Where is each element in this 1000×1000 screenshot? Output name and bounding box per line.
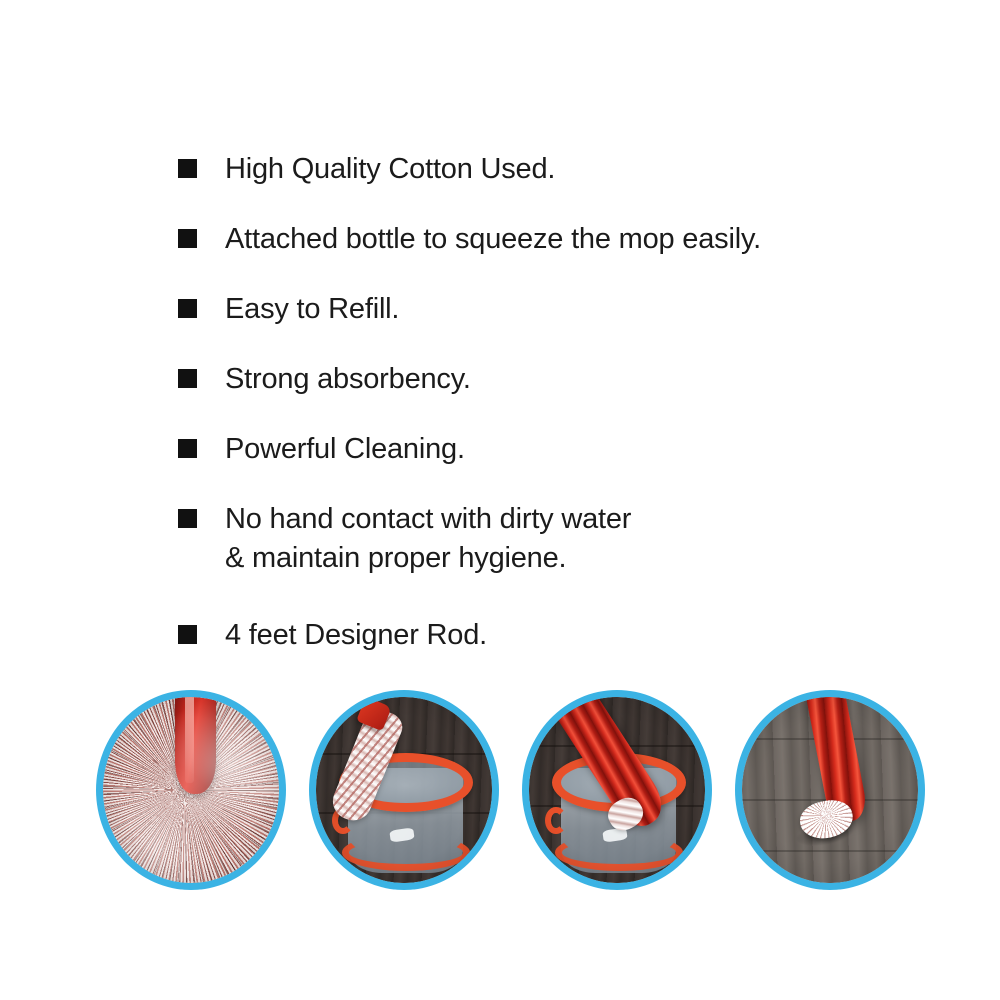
photo-scene [103, 697, 279, 883]
product-photo-mop-on-wooden-floor [735, 690, 925, 890]
feature-text: High Quality Cotton Used. [225, 150, 555, 189]
bullet-square-icon [178, 299, 197, 318]
list-item: Strong absorbency. [178, 360, 938, 399]
bullet-square-icon [178, 369, 197, 388]
list-item: Powerful Cleaning. [178, 430, 938, 469]
bullet-square-icon [178, 439, 197, 458]
list-item: Easy to Refill. [178, 290, 938, 329]
list-item: Attached bottle to squeeze the mop easil… [178, 220, 938, 259]
photo-scene [316, 697, 492, 883]
list-item: No hand contact with dirty water & maint… [178, 500, 938, 578]
photo-scene [529, 697, 705, 883]
feature-text: Powerful Cleaning. [225, 430, 465, 469]
product-photo-mop-rod-over-bucket [522, 690, 712, 890]
feature-text: Strong absorbency. [225, 360, 471, 399]
product-feature-panel: High Quality Cotton Used. Attached bottl… [0, 0, 1000, 1000]
bullet-square-icon [178, 509, 197, 528]
list-item: High Quality Cotton Used. [178, 150, 938, 189]
feature-text: No hand contact with dirty water & maint… [225, 500, 631, 578]
feature-text: Easy to Refill. [225, 290, 399, 329]
bullet-square-icon [178, 625, 197, 644]
product-photo-mop-head-closeup [96, 690, 286, 890]
product-photo-row [96, 690, 926, 895]
bullet-square-icon [178, 229, 197, 248]
bullet-square-icon [178, 159, 197, 178]
photo-scene [742, 697, 918, 883]
product-photo-mop-in-bucket-squeeze [309, 690, 499, 890]
feature-text: Attached bottle to squeeze the mop easil… [225, 220, 761, 259]
list-item: 4 feet Designer Rod. [178, 616, 938, 655]
feature-text: 4 feet Designer Rod. [225, 616, 487, 655]
bucket-handle [545, 807, 566, 834]
strand-gloss [103, 697, 279, 883]
feature-list: High Quality Cotton Used. Attached bottl… [178, 150, 938, 686]
